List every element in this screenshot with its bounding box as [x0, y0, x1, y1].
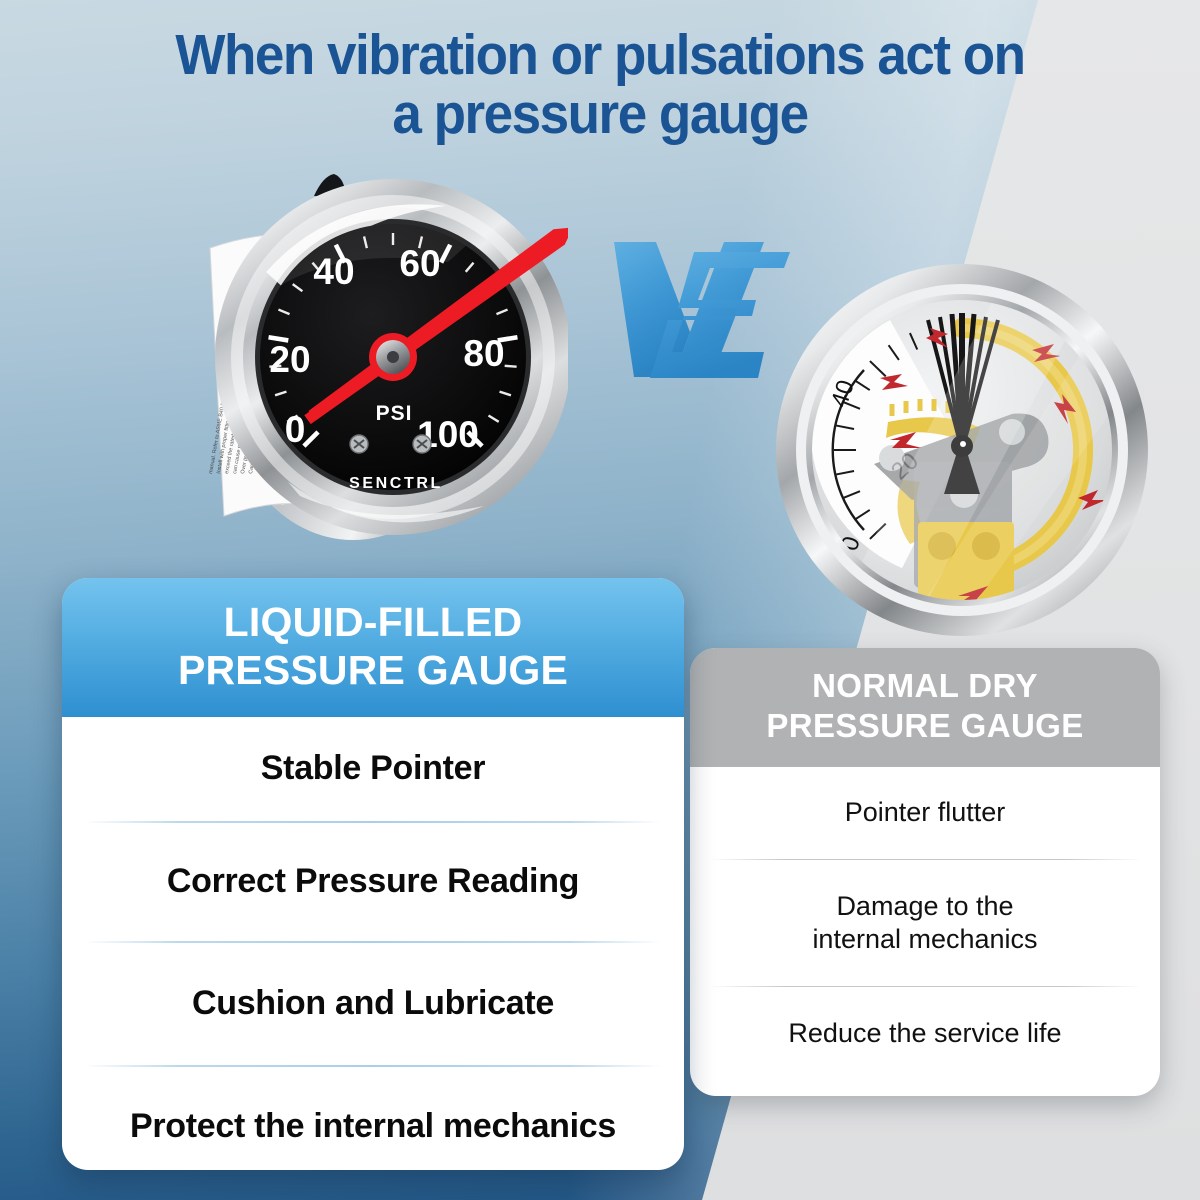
page-title-line-2: a pressure gauge [42, 85, 1158, 144]
dry-card-header: NORMAL DRY PRESSURE GAUGE [690, 648, 1160, 767]
liquid-card-list-item: Cushion and Lubricate [84, 943, 662, 1065]
dry-card-list-item-line-1: Damage to the [836, 891, 1013, 921]
liquid-card-list-item: Protect the internal mechanics [84, 1067, 662, 1170]
dry-gauge-cutaway-image: 40 20 0 [762, 250, 1162, 650]
liquid-card-list-item: Correct Pressure Reading [84, 823, 662, 941]
gauge-unit-label: PSI [376, 402, 413, 425]
liquid-gauge-comparison-card: LIQUID-FILLED PRESSURE GAUGE Stable Poin… [62, 578, 684, 1170]
page-title: When vibration or pulsations act on a pr… [42, 26, 1158, 143]
dry-card-list-item: Reduce the service life [708, 987, 1142, 1081]
gauge-dial-number-20: 20 [269, 339, 310, 380]
dry-card-list-item-line-2: internal mechanics [812, 924, 1037, 954]
dry-card-header-line-2: PRESSURE GAUGE [702, 706, 1148, 746]
dry-card-header-line-1: NORMAL DRY [702, 666, 1148, 706]
liquid-card-body: Stable Pointer Correct Pressure Reading … [62, 717, 684, 1170]
liquid-card-header: LIQUID-FILLED PRESSURE GAUGE [62, 578, 684, 717]
liquid-card-list-item: Stable Pointer [84, 717, 662, 821]
liquid-card-header-line-2: PRESSURE GAUGE [76, 646, 670, 694]
dry-card-body: Pointer flutter Damage to the internal m… [690, 767, 1160, 1081]
liquid-card-header-line-1: LIQUID-FILLED [76, 598, 670, 646]
page-title-line-1: When vibration or pulsations act on [175, 23, 1024, 87]
dry-card-list-item: Pointer flutter [708, 767, 1142, 859]
liquid-filled-gauge-image: DO NOT USE ON OXYGEN SERVICE Can cause e… [148, 152, 568, 572]
gauge-brand-label: SENCTRL [349, 475, 443, 492]
dry-gauge-comparison-card: NORMAL DRY PRESSURE GAUGE Pointer flutte… [690, 648, 1160, 1096]
gauge-dial-number-80: 80 [463, 333, 504, 374]
dry-card-list-item: Damage to the internal mechanics [708, 860, 1142, 986]
vs-badge [612, 238, 802, 388]
gauge-dial-number-0: 0 [285, 409, 306, 450]
gauge-pointer-hub [369, 333, 417, 381]
